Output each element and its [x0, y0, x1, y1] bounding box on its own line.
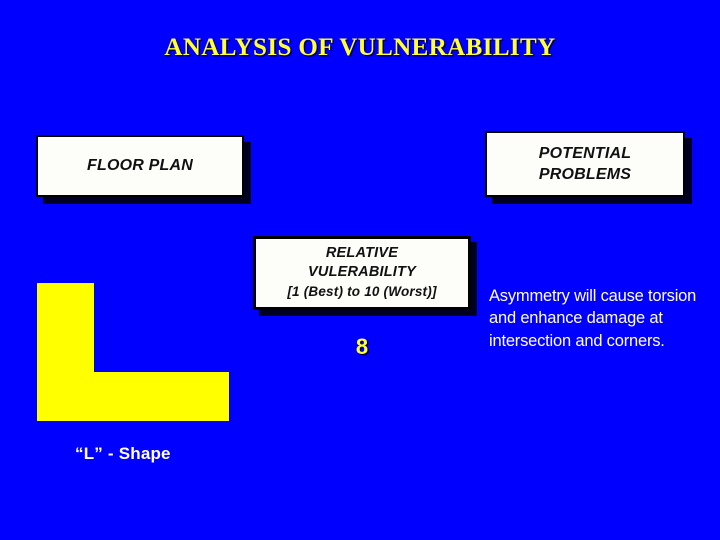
relative-vulnerability-label: RELATIVE VULERABILITY [1 (Best) to 10 (W… — [287, 244, 436, 303]
potential-problems-description: Asymmetry will cause torsion and enhance… — [489, 285, 704, 352]
l-shape-floor-plan-diagram — [37, 283, 229, 421]
potential-problems-line-1: POTENTIAL — [539, 145, 631, 162]
l-shape-caption: “L” - Shape — [37, 444, 267, 464]
potential-problems-line-2: PROBLEMS — [539, 166, 631, 183]
relative-vulnerability-line-2: VULERABILITY — [308, 264, 416, 280]
vulnerability-score-value: 8 — [253, 334, 471, 360]
page-title: ANALYSIS OF VULNERABILITY — [0, 34, 720, 62]
floor-plan-label: FLOOR PLAN — [87, 155, 193, 176]
relative-vulnerability-scale: [1 (Best) to 10 (Worst)] — [287, 284, 436, 299]
potential-problems-label: POTENTIAL PROBLEMS — [539, 143, 631, 185]
potential-problems-header-box: POTENTIAL PROBLEMS — [485, 131, 685, 197]
floor-plan-header-box: FLOOR PLAN — [36, 135, 244, 197]
relative-vulnerability-header-box: RELATIVE VULERABILITY [1 (Best) to 10 (W… — [253, 236, 471, 310]
relative-vulnerability-line-1: RELATIVE — [326, 245, 398, 261]
slide-canvas: ANALYSIS OF VULNERABILITY FLOOR PLAN POT… — [0, 0, 720, 540]
l-shape-horizontal-wing — [37, 372, 229, 421]
